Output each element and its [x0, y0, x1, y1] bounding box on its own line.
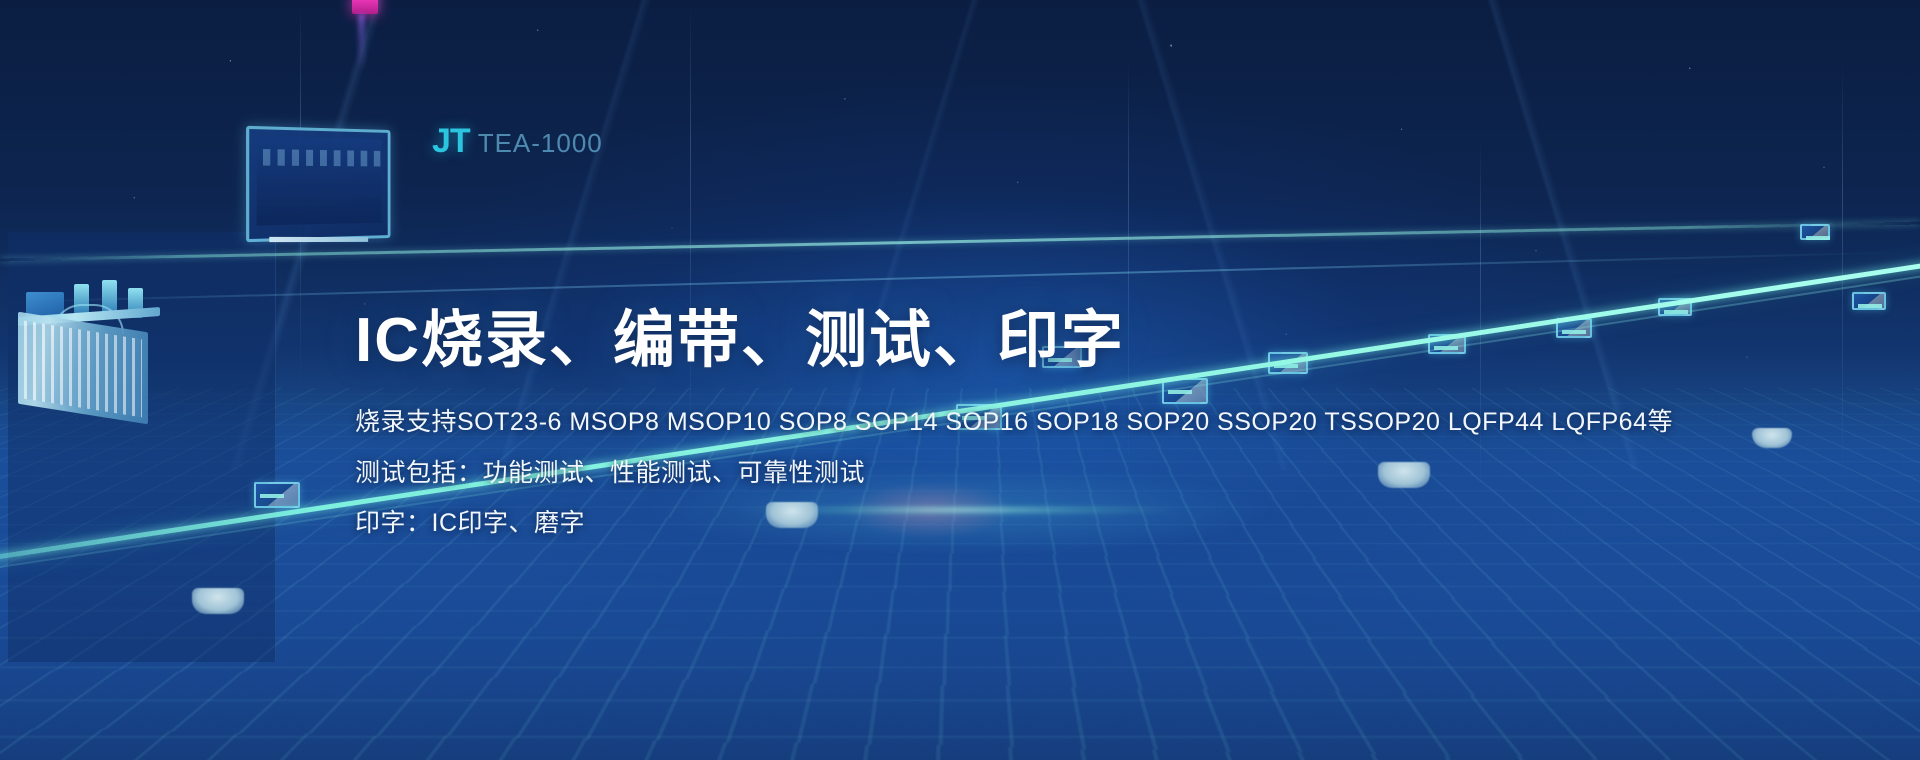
gantry-beam-decoration — [0, 222, 1920, 262]
machine-cylinder-decoration — [74, 284, 89, 314]
machine-rail-decoration — [18, 307, 160, 326]
monitor-bezel-decoration — [246, 126, 390, 242]
burn-in-machine-illustration — [18, 278, 160, 428]
machine-tube-decoration — [52, 304, 124, 334]
control-monitor-illustration — [248, 128, 394, 240]
equipment-model-text: TEA-1000 — [478, 128, 603, 159]
rail-mount-decoration — [192, 588, 244, 614]
machine-cylinder-decoration — [102, 280, 117, 314]
ic-chip-icon — [1658, 298, 1692, 316]
banner-headline: IC烧录、编带、测试、印字 — [355, 306, 1655, 375]
monitor-stand-decoration — [269, 237, 368, 242]
ic-chip-icon — [1852, 292, 1886, 310]
banner-subline-packages: 烧录支持SOT23-6 MSOP8 MSOP10 SOP8 SOP14 SOP1… — [355, 409, 1655, 435]
left-structure-decoration — [8, 232, 276, 662]
banner-content: IC烧录、编带、测试、印字 烧录支持SOT23-6 MSOP8 MSOP10 S… — [355, 306, 1655, 560]
machine-fins-decoration — [24, 321, 142, 418]
equipment-brand-mark: JT TEA-1000 — [432, 122, 603, 161]
guide-line-decoration — [300, 0, 301, 400]
beacon-light-icon — [352, 0, 378, 14]
banner-subline-testing: 测试包括：功能测试、性能测试、可靠性测试 — [355, 460, 1655, 486]
banner-subline-marking: 印字：IC印字、磨字 — [355, 510, 1655, 536]
ic-chip-icon — [254, 482, 300, 508]
rail-mount-decoration — [1752, 428, 1792, 448]
guide-line-decoration — [1842, 60, 1843, 490]
hero-banner: JT TEA-1000 IC烧录、编带、测试、印字 烧录支持SOT23-6 MS… — [0, 0, 1920, 760]
machine-module-decoration — [26, 292, 64, 318]
machine-body-decoration — [18, 312, 148, 425]
ic-chip-icon — [1800, 224, 1830, 240]
monitor-screen-decoration — [257, 137, 382, 226]
banner-subtext-list: 烧录支持SOT23-6 MSOP8 MSOP10 SOP8 SOP14 SOP1… — [355, 409, 1655, 536]
machine-cylinder-decoration — [128, 288, 143, 318]
beacon-ray-decoration — [358, 14, 365, 70]
brand-logo-text: JT — [432, 122, 470, 161]
gantry-beam-secondary-decoration — [0, 251, 1919, 303]
